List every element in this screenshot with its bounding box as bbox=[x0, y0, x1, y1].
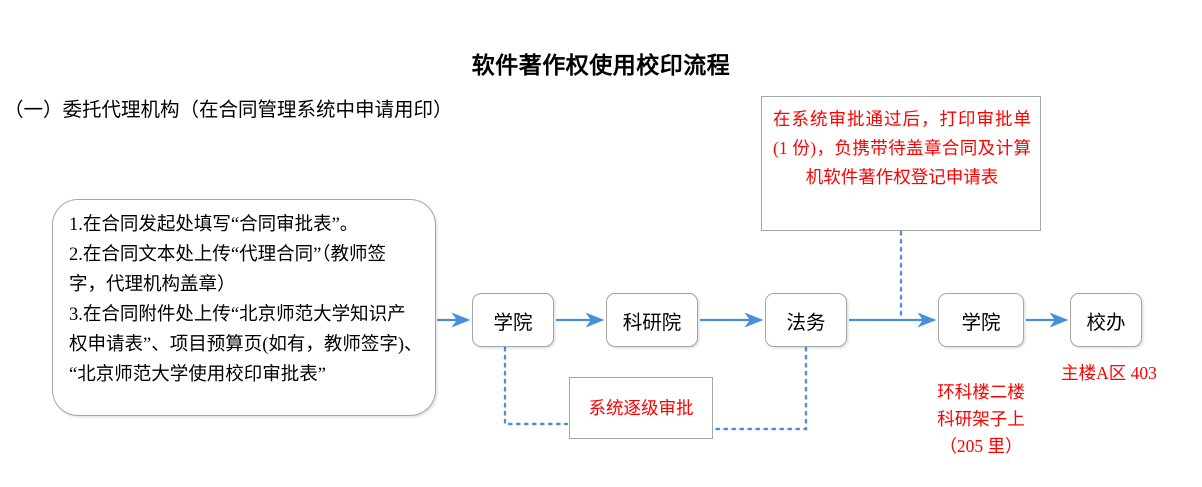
process-node-label: 科研院 bbox=[623, 306, 682, 335]
annotation-office-location: 主楼A区 403 bbox=[1030, 360, 1188, 387]
instruction-panel: 1.在合同发起处填写“合同审批表”。 2.在合同文本处上传“代理合同”（教师签字… bbox=[52, 199, 436, 416]
process-node-label: 学院 bbox=[493, 306, 532, 335]
section-subtitle: （一）委托代理机构（在合同管理系统中申请用印） bbox=[4, 93, 453, 122]
process-node-label: 法务 bbox=[786, 306, 825, 335]
process-node-college-1[interactable]: 学院 bbox=[472, 293, 554, 347]
process-node-school-office[interactable]: 校办 bbox=[1070, 293, 1142, 347]
process-node-college-2[interactable]: 学院 bbox=[938, 293, 1024, 347]
process-node-legal-affairs[interactable]: 法务 bbox=[765, 293, 847, 347]
process-node-label: 校办 bbox=[1086, 306, 1125, 335]
annotation-college-location: 环科楼二楼 科研架子上 （205 里） bbox=[908, 379, 1054, 460]
instruction-panel-text: 1.在合同发起处填写“合同审批表”。 2.在合同文本处上传“代理合同”（教师签字… bbox=[69, 210, 423, 390]
dotted-legal-to-subbox bbox=[715, 348, 806, 429]
flowchart-canvas: 软件著作权使用校印流程 （一）委托代理机构（在合同管理系统中申请用印） 1.在合… bbox=[0, 0, 1202, 487]
process-node-label: 学院 bbox=[961, 306, 1000, 335]
note-box-text: 在系统审批通过后，打印审批单(1 份)，负携带待盖章合同及计算机软件著作权登记申… bbox=[773, 105, 1031, 192]
system-approval-box: 系统逐级审批 bbox=[569, 377, 713, 439]
note-box: 在系统审批通过后，打印审批单(1 份)，负携带待盖章合同及计算机软件著作权登记申… bbox=[761, 96, 1041, 231]
process-node-research-institute[interactable]: 科研院 bbox=[606, 293, 698, 347]
dotted-college-to-subbox bbox=[505, 348, 567, 424]
system-approval-label: 系统逐级审批 bbox=[589, 394, 694, 422]
page-title: 软件著作权使用校印流程 bbox=[0, 46, 1202, 80]
